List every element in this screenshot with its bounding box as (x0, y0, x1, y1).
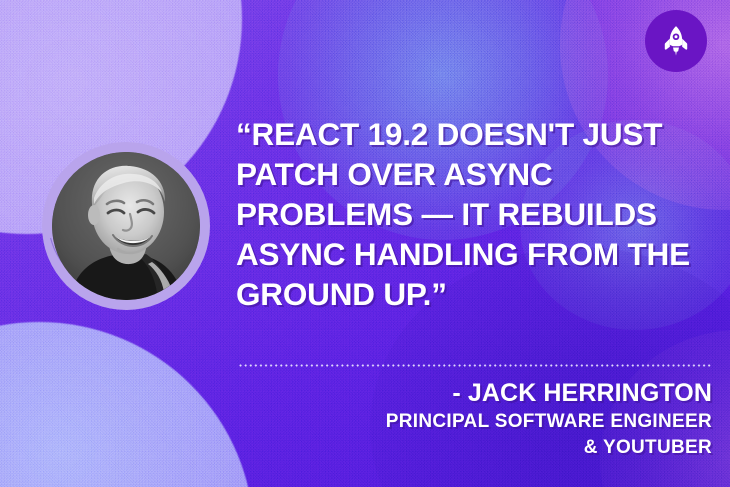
quote-text: “REACT 19.2 DOESN'T JUST PATCH OVER ASYN… (236, 114, 712, 314)
divider (238, 364, 712, 367)
avatar (42, 142, 210, 310)
attribution-role-line1: PRINCIPAL SOFTWARE ENGINEER (236, 409, 712, 435)
quote-card: “REACT 19.2 DOESN'T JUST PATCH OVER ASYN… (0, 0, 730, 487)
attribution-role-line2: & YOUTUBER (236, 435, 712, 461)
attribution-name: - JACK HERRINGTON (236, 378, 712, 408)
rocket-icon (659, 24, 693, 58)
avatar-photo (52, 152, 200, 300)
content-column: “REACT 19.2 DOESN'T JUST PATCH OVER ASYN… (236, 0, 712, 487)
attribution: - JACK HERRINGTON PRINCIPAL SOFTWARE ENG… (236, 378, 712, 461)
logo-badge[interactable] (645, 10, 707, 72)
